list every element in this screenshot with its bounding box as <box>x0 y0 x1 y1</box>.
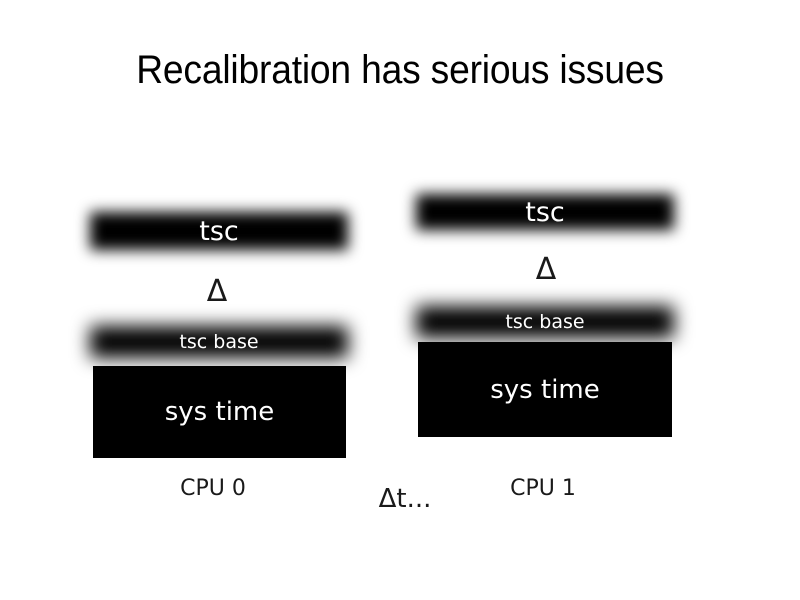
cpu1-delta-symbol: Δ <box>516 252 576 287</box>
slide-canvas: Recalibration has serious issues tsc Δ t… <box>0 0 800 600</box>
cpu1-tsc-base-bar: tsc base <box>416 306 674 338</box>
cpu1-sys-time-box: sys time <box>418 342 672 437</box>
cpu0-tsc-base-bar: tsc base <box>90 326 348 358</box>
cpu0-column-label: CPU 0 <box>143 476 283 501</box>
cpu0-sys-time-label: sys time <box>165 397 274 427</box>
cpu0-sys-time-box: sys time <box>93 366 346 458</box>
cpu0-tsc-bar: tsc <box>90 212 348 250</box>
cpu1-tsc-bar-label: tsc <box>416 194 674 230</box>
cpu1-sys-time-label: sys time <box>490 375 599 405</box>
cpu1-column-label: CPU 1 <box>473 476 613 501</box>
cpu0-delta-symbol: Δ <box>187 274 247 309</box>
cpu0-tsc-base-bar-label: tsc base <box>90 326 348 358</box>
cpu1-tsc-base-bar-label: tsc base <box>416 306 674 338</box>
delta-t-annotation: Δt... <box>340 484 470 514</box>
page-title: Recalibration has serious issues <box>28 48 772 93</box>
cpu1-tsc-bar: tsc <box>416 194 674 230</box>
cpu0-tsc-bar-label: tsc <box>90 212 348 250</box>
